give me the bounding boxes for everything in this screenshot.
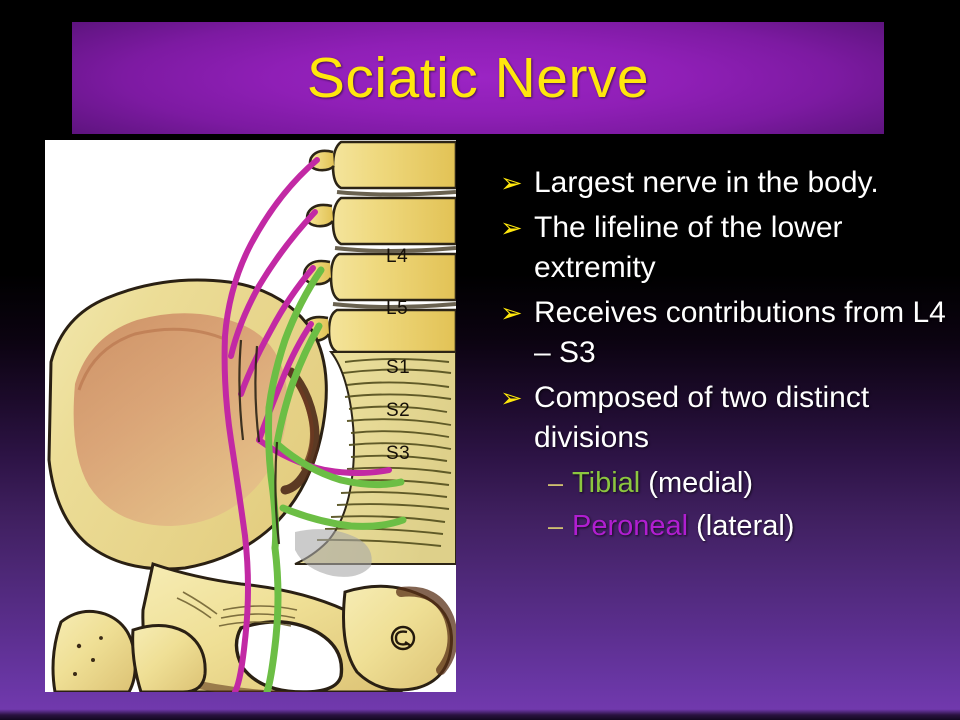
sub-bullet-tibial: – Tibial (medial) bbox=[548, 463, 952, 504]
sub-bullet-peroneal-label: Peroneal (lateral) bbox=[572, 506, 794, 547]
slide-root: Sciatic Nerve bbox=[0, 0, 960, 720]
acetabulum bbox=[344, 586, 453, 690]
bullet-item-1: ➢ Largest nerve in the body. bbox=[500, 163, 952, 203]
arrow-bullet-icon: ➢ bbox=[500, 163, 534, 203]
sub-bullet-peroneal: – Peroneal (lateral) bbox=[548, 506, 952, 547]
vertebra-label-l4: L4 bbox=[386, 246, 408, 268]
tibial-qualifier: (medial) bbox=[640, 467, 753, 499]
bullet-list: ➢ Largest nerve in the body. ➢ The lifel… bbox=[500, 163, 952, 547]
page-title: Sciatic Nerve bbox=[72, 22, 884, 134]
vertebra-label-s2: S2 bbox=[386, 400, 410, 422]
dash-bullet-icon: – bbox=[548, 463, 572, 504]
arrow-bullet-icon: ➢ bbox=[500, 208, 534, 248]
arrow-bullet-icon: ➢ bbox=[500, 378, 534, 418]
vertebra-label-l5: L5 bbox=[386, 298, 408, 320]
tibial-keyword: Tibial bbox=[572, 467, 640, 499]
vertebra-label-s3: S3 bbox=[386, 443, 410, 465]
bullet-item-2: ➢ The lifeline of the lower extremity bbox=[500, 208, 952, 288]
bullet-item-3-label: Receives contributions from L4 – S3 bbox=[534, 293, 952, 373]
vertebra-label-s1: S1 bbox=[386, 357, 410, 379]
bullet-item-1-label: Largest nerve in the body. bbox=[534, 163, 952, 203]
bullet-item-2-label: The lifeline of the lower extremity bbox=[534, 208, 952, 288]
dash-bullet-icon: – bbox=[548, 506, 572, 547]
bullet-item-4: ➢ Composed of two distinct divisions bbox=[500, 378, 952, 458]
arrow-bullet-icon: ➢ bbox=[500, 293, 534, 333]
peroneal-keyword: Peroneal bbox=[572, 510, 688, 542]
bullet-item-4-label: Composed of two distinct divisions bbox=[534, 378, 952, 458]
bullet-item-3: ➢ Receives contributions from L4 – S3 bbox=[500, 293, 952, 373]
sub-bullet-tibial-label: Tibial (medial) bbox=[572, 463, 753, 504]
anatomy-figure-panel: L4 L5 S1 S2 S3 bbox=[45, 140, 456, 692]
peroneal-qualifier: (lateral) bbox=[688, 510, 794, 542]
